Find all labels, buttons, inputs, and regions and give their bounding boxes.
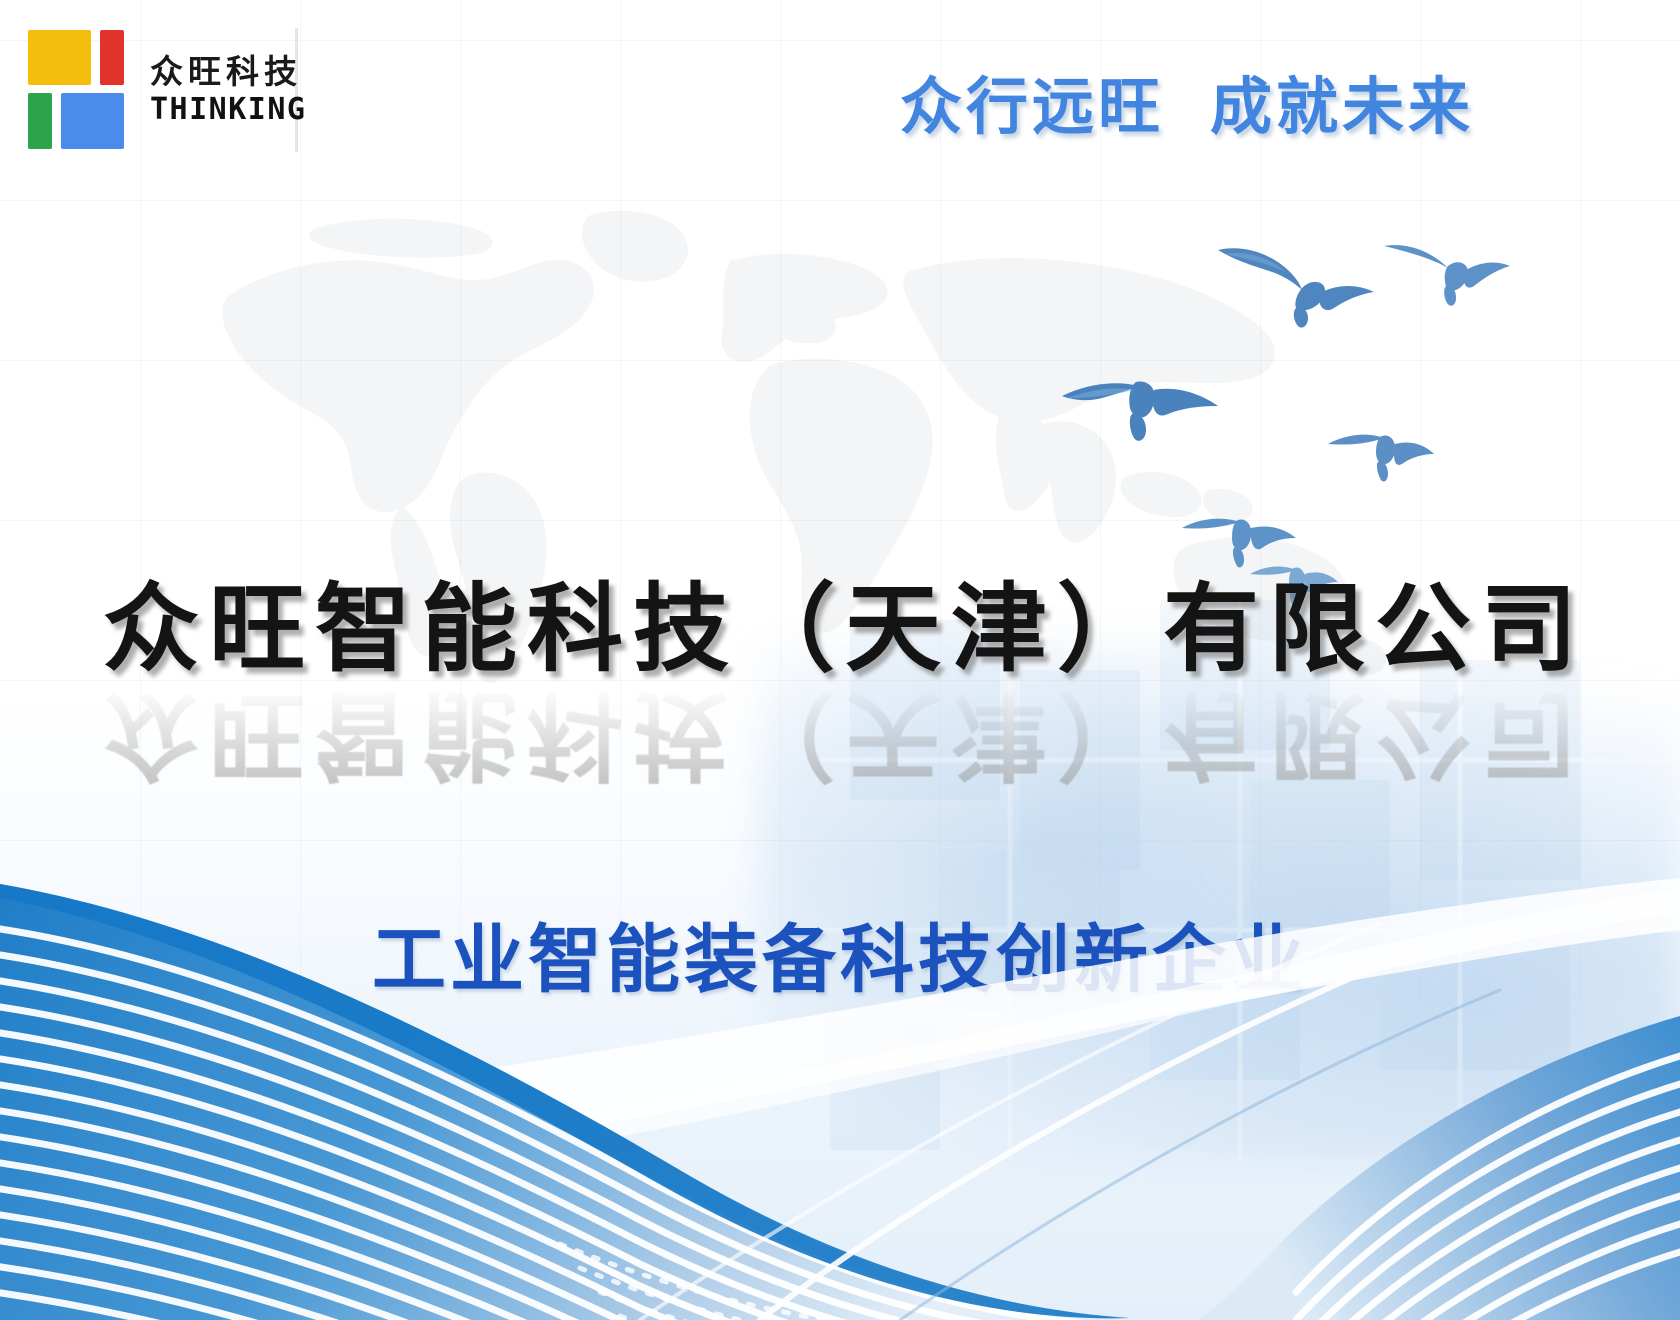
title-slide: 众旺科技 THINKING 众行远旺成就未来 [0,0,1680,1320]
page-subtitle: 工业智能装备科技创新企业 [0,900,1680,1007]
logo-squares-icon [28,30,128,150]
logo-square-yellow-icon [28,30,91,85]
logo-name-cn: 众旺科技 [150,55,307,90]
logo-square-red-icon [100,30,124,85]
slide-header: 众旺科技 THINKING 众行远旺成就未来 [0,0,1680,190]
slogan-part-2: 成就未来 [1210,70,1474,143]
logo-square-blue-icon [61,93,124,149]
logo-square-green-icon [28,93,52,149]
company-logo: 众旺科技 THINKING [28,30,307,150]
page-title: 众旺智能科技（天津）有限公司 [0,578,1680,682]
logo-wordmark: 众旺科技 THINKING [150,55,307,125]
logo-name-en: THINKING [150,94,307,126]
slogan-part-1: 众行远旺 [900,70,1164,143]
header-slogan: 众行远旺成就未来 [900,56,1474,146]
title-block: 众旺智能科技（天津）有限公司 众旺智能科技（天津）有限公司 [0,578,1680,682]
